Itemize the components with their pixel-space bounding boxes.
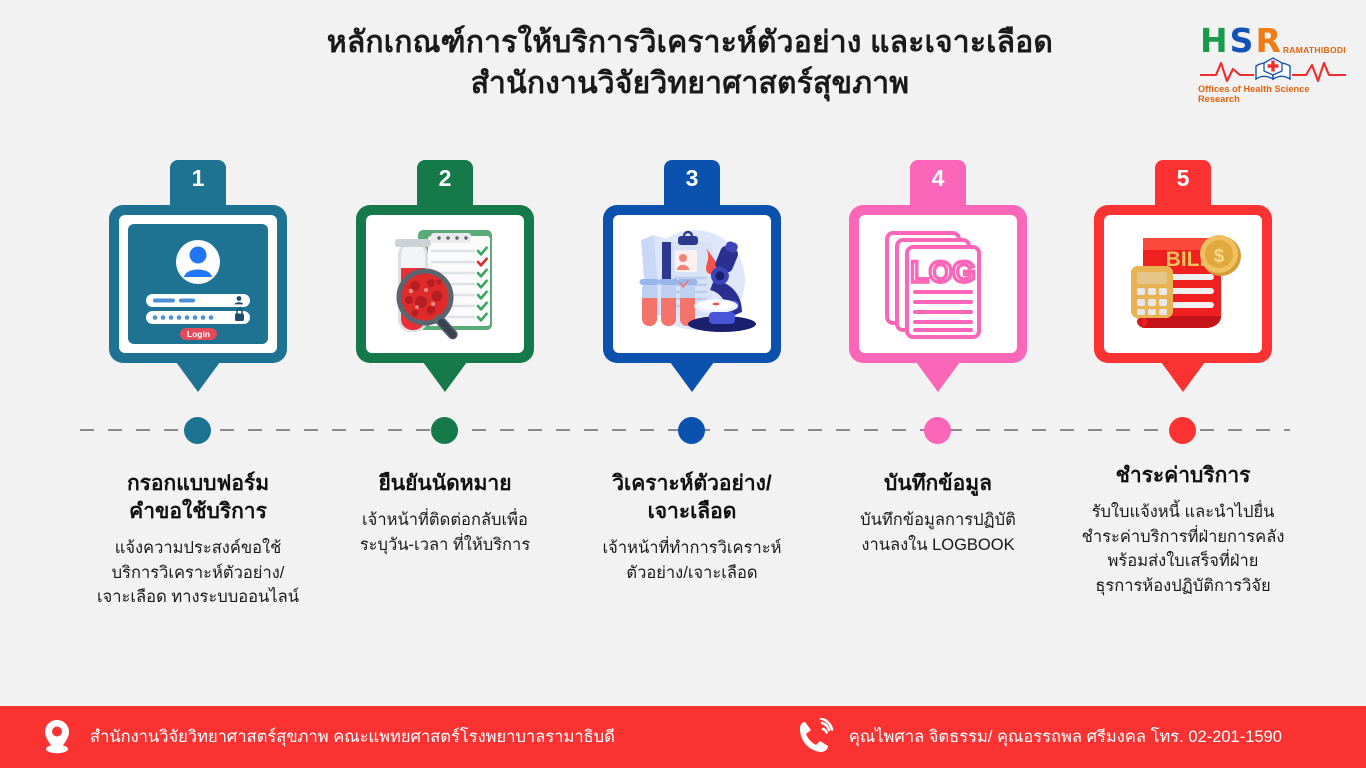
log-label: LOG — [911, 256, 976, 289]
caption-title-line-2: คำขอใช้บริการ — [63, 498, 333, 526]
footer-location-text: สำนักงานวิจัยวิทยาศาสตร์สุขภาพ คณะแพทยศา… — [90, 724, 615, 750]
header: หลักเกณฑ์การให้บริการวิเคราะห์ตัวอย่าง แ… — [0, 0, 1366, 140]
phone-ringing-icon — [793, 714, 839, 760]
footer-bar: สำนักงานวิจัยวิทยาศาสตร์สุขภาพ คณะแพทยศา… — [0, 706, 1366, 768]
step-illustration: LOG — [859, 215, 1017, 353]
logo-letter-s: S — [1230, 24, 1254, 57]
caption-body: แจ้งความประสงค์ขอใช้ บริการวิเคราะห์ตัวอ… — [63, 536, 333, 610]
map-pin-icon — [34, 714, 80, 760]
caption-title: วิเคราะห์ตัวอย่าง/ เจาะเลือด — [557, 470, 827, 526]
step-card: BILL $ — [1094, 205, 1272, 363]
step-illustration — [366, 215, 524, 353]
step-card: Login — [109, 205, 287, 363]
timeline-dot-4 — [924, 417, 951, 444]
logo-caption: Offices of Health Science Research — [1198, 84, 1348, 104]
page-title: หลักเกณฑ์การให้บริการวิเคราะห์ตัวอย่าง แ… — [300, 22, 1080, 104]
caption-2: ยืนยันนัดหมาย เจ้าหน้าที่ติดต่อกลับเพื่อ… — [310, 470, 580, 557]
title-line-2: สำนักงานวิจัยวิทยาศาสตร์สุขภาพ — [300, 63, 1080, 104]
timeline-dot-1 — [184, 417, 211, 444]
caption-5: ชำระค่าบริการ รับใบแจ้งหนี้ และนำไปยื่น … — [1048, 462, 1318, 599]
caption-body: เจ้าหน้าที่ติดต่อกลับเพื่อ ระบุวัน-เวลา … — [310, 508, 580, 558]
caption-body: รับใบแจ้งหนี้ และนำไปยื่น ชำระค่าบริการท… — [1048, 500, 1318, 599]
step-pointer — [670, 362, 714, 392]
blood-sample-checklist-icon — [371, 220, 519, 348]
log-documents-icon: LOG — [864, 220, 1012, 348]
caption-title-line-2: เจาะเลือด — [557, 498, 827, 526]
step-pointer — [176, 362, 220, 392]
step-illustration — [613, 215, 771, 353]
timeline-dot-2 — [431, 417, 458, 444]
timeline-dot-3 — [678, 417, 705, 444]
caption-title: บันทึกข้อมูล — [803, 470, 1073, 498]
login-form-icon: Login — [124, 220, 272, 348]
caption-title: ชำระค่าบริการ — [1048, 462, 1318, 490]
logo-letter-r: R — [1255, 24, 1280, 57]
caption-3: วิเคราะห์ตัวอย่าง/ เจาะเลือด เจ้าหน้าที่… — [557, 470, 827, 585]
caption-title: ยืนยันนัดหมาย — [310, 470, 580, 498]
step-pointer — [423, 362, 467, 392]
login-button-label: Login — [187, 329, 210, 339]
step-card — [603, 205, 781, 363]
step-card — [356, 205, 534, 363]
caption-4: บันทึกข้อมูล บันทึกข้อมูลการปฏิบัติ งานล… — [803, 470, 1073, 557]
caption-title: กรอกแบบฟอร์ม คำขอใช้บริการ — [63, 470, 333, 526]
footer-phone: คุณไพศาล จิตธรรม/ คุณอรรถพล ศรีมงคล โทร.… — [793, 714, 1282, 760]
step-illustration: Login — [119, 215, 277, 353]
caption-1: กรอกแบบฟอร์ม คำขอใช้บริการ แจ้งความประสง… — [63, 470, 333, 610]
footer-phone-text: คุณไพศาล จิตธรรม/ คุณอรรถพล ศรีมงคล โทร.… — [849, 724, 1282, 750]
caption-body: เจ้าหน้าที่ทำการวิเคราะห์ ตัวอย่าง/เจาะเ… — [557, 536, 827, 586]
caption-title-line-1: กรอกแบบฟอร์ม — [63, 470, 333, 498]
step-card: LOG — [849, 205, 1027, 363]
caption-body: บันทึกข้อมูลการปฏิบัติ งานลงใน LOGBOOK — [803, 508, 1073, 558]
logo-letter-h: H — [1200, 24, 1228, 57]
infographic-page: หลักเกณฑ์การให้บริการวิเคราะห์ตัวอย่าง แ… — [0, 0, 1366, 768]
caption-title-line-1: วิเคราะห์ตัวอย่าง/ — [557, 470, 827, 498]
caption-title-line-1: ยืนยันนัดหมาย — [310, 470, 580, 498]
svg-text:$: $ — [1214, 246, 1225, 267]
bill-payment-icon: BILL $ — [1109, 220, 1257, 348]
step-pointer — [1161, 362, 1205, 392]
title-line-1: หลักเกณฑ์การให้บริการวิเคราะห์ตัวอย่าง แ… — [300, 22, 1080, 63]
footer-location: สำนักงานวิจัยวิทยาศาสตร์สุขภาพ คณะแพทยศา… — [34, 714, 615, 760]
step-pointer — [916, 362, 960, 392]
logo-wordmark: H S R RAMATHIBODI — [1200, 24, 1346, 57]
step-illustration: BILL $ — [1104, 215, 1262, 353]
microscope-lab-icon — [618, 220, 766, 348]
hsr-logo: H S R RAMATHIBODI Offices of Health Scie… — [1198, 24, 1348, 120]
caption-title-line-1: บันทึกข้อมูล — [803, 470, 1073, 498]
ekg-book-icon — [1198, 55, 1348, 85]
caption-title-line-1: ชำระค่าบริการ — [1048, 462, 1318, 490]
timeline-dot-5 — [1169, 417, 1196, 444]
